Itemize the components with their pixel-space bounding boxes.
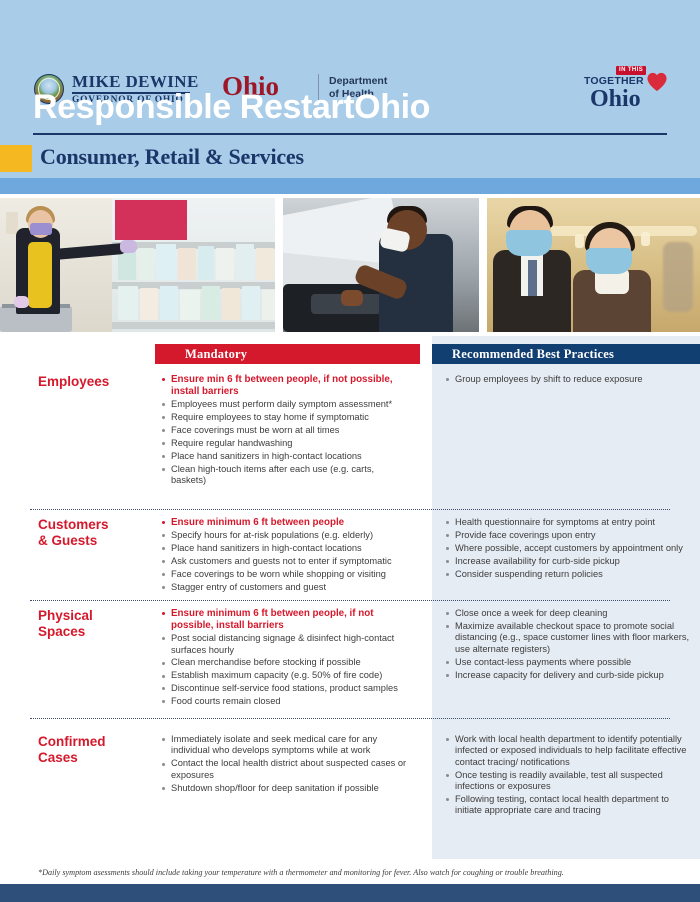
list-item: Discontinue self-service food stations, … xyxy=(160,683,410,694)
list-item: Consider suspending return policies xyxy=(444,569,692,580)
list-item: Food courts remain closed xyxy=(160,696,410,707)
row-label-employees: Employees xyxy=(38,374,148,390)
column-header-mandatory-label: Mandatory xyxy=(185,347,247,362)
list-item: Require regular handwashing xyxy=(160,438,410,449)
list-item: Increase availability for curb-side pick… xyxy=(444,556,692,567)
list-item: Maximize available checkout space to pro… xyxy=(444,621,692,655)
row-label-confirmed-cases: Confirmed Cases xyxy=(38,734,148,766)
row-physical-mandatory-list: Ensure minimum 6 ft between people, if n… xyxy=(160,608,410,709)
photo-shopper xyxy=(0,198,275,332)
title-underline xyxy=(33,133,667,135)
row-label-line1: Customers xyxy=(38,517,148,533)
list-item: Once testing is readily available, test … xyxy=(444,770,692,793)
row-label-line1: Physical xyxy=(38,608,148,624)
row-label-physical-spaces: Physical Spaces xyxy=(38,608,148,640)
row-customers-recommended-list: Health questionnaire for symptoms at ent… xyxy=(444,517,692,582)
photo-mechanic xyxy=(283,198,479,332)
row-confirmed-mandatory-list: Immediately isolate and seek medical car… xyxy=(160,734,410,796)
footnote: *Daily symptom asessments should include… xyxy=(38,868,658,878)
list-item: Face coverings to be worn while shopping… xyxy=(160,569,410,580)
in-this-together-ohio-logo: IN THIS TOGETHER Ohio xyxy=(584,66,676,118)
page-subtitle: Consumer, Retail & Services xyxy=(40,143,304,170)
list-item: Specify hours for at-risk populations (e… xyxy=(160,530,410,541)
list-item: Face coverings must be worn at all times xyxy=(160,425,410,436)
list-item: Provide face coverings upon entry xyxy=(444,530,692,541)
row-customers-mandatory-list: Ensure minimum 6 ft between people Speci… xyxy=(160,517,410,595)
list-item: Health questionnaire for symptoms at ent… xyxy=(444,517,692,528)
list-item: Ask customers and guests not to enter if… xyxy=(160,556,410,567)
list-item: Use contact-less payments where possible xyxy=(444,657,692,668)
list-item: Clean high-touch items after each use (e… xyxy=(160,464,410,487)
list-item: Place hand sanitizers in high-contact lo… xyxy=(160,451,410,462)
photo-strip xyxy=(0,194,700,336)
in-this-label: IN THIS xyxy=(616,66,646,75)
list-item: Ensure min 6 ft between people, if not p… xyxy=(160,374,410,398)
footer-bar xyxy=(0,884,700,902)
page-header: MIKE DEWINE GOVERNOR OF OHIO Ohio Depart… xyxy=(0,0,700,178)
list-item: Place hand sanitizers in high-contact lo… xyxy=(160,543,410,554)
row-label-line2: & Guests xyxy=(38,533,148,549)
row-label-line2: Spaces xyxy=(38,624,148,640)
odh-department-line1: Department xyxy=(329,75,387,88)
list-item: Require employees to stay home if sympto… xyxy=(160,412,410,423)
poster-page: MIKE DEWINE GOVERNOR OF OHIO Ohio Depart… xyxy=(0,0,700,902)
list-item: Stagger entry of customers and guest xyxy=(160,582,410,593)
page-title: Responsible RestartOhio xyxy=(33,88,430,126)
list-item: Increase capacity for delivery and curb-… xyxy=(444,670,692,681)
together-ohio-wordmark: Ohio xyxy=(590,86,641,112)
list-item: Close once a week for deep cleaning xyxy=(444,608,692,619)
column-header-recommended: Recommended Best Practices xyxy=(432,344,700,364)
row-physical-recommended-list: Close once a week for deep cleaning Maxi… xyxy=(444,608,692,682)
list-item: Post social distancing signage & disinfe… xyxy=(160,633,410,656)
list-item: Where possible, accept customers by appo… xyxy=(444,543,692,554)
guidelines-table: Mandatory Recommended Best Practices Emp… xyxy=(0,336,700,859)
list-item: Work with local health department to ide… xyxy=(444,734,692,768)
row-divider xyxy=(30,718,670,719)
list-item: Establish maximum capacity (e.g. 50% of … xyxy=(160,670,410,681)
list-item: Shutdown shop/floor for deep sanitation … xyxy=(160,783,410,794)
list-item: Clean merchandise before stocking if pos… xyxy=(160,657,410,668)
row-employees-mandatory-list: Ensure min 6 ft between people, if not p… xyxy=(160,374,410,488)
list-item: Ensure minimum 6 ft between people, if n… xyxy=(160,608,410,632)
logo-row: MIKE DEWINE GOVERNOR OF OHIO Ohio Depart… xyxy=(0,33,700,89)
row-label-line2: Cases xyxy=(38,750,148,766)
row-label-customers-guests: Customers & Guests xyxy=(38,517,148,549)
row-divider xyxy=(30,600,670,601)
list-item: Group employees by shift to reduce expos… xyxy=(444,374,692,385)
row-divider xyxy=(30,509,670,510)
yellow-accent-block xyxy=(0,145,32,172)
photo-service-workers xyxy=(487,198,700,332)
row-employees-recommended-list: Group employees by shift to reduce expos… xyxy=(444,374,692,387)
row-confirmed-recommended-list: Work with local health department to ide… xyxy=(444,734,692,818)
column-header-mandatory: Mandatory xyxy=(155,344,420,364)
heart-icon xyxy=(646,72,668,92)
list-item: Contact the local health district about … xyxy=(160,758,410,781)
list-item: Immediately isolate and seek medical car… xyxy=(160,734,410,757)
list-item: Employees must perform daily symptom ass… xyxy=(160,399,410,410)
list-item: Following testing, contact local health … xyxy=(444,794,692,817)
list-item: Ensure minimum 6 ft between people xyxy=(160,517,410,529)
column-header-recommended-label: Recommended Best Practices xyxy=(452,347,614,362)
header-blue-strip xyxy=(0,178,700,194)
row-label-line1: Confirmed xyxy=(38,734,148,750)
